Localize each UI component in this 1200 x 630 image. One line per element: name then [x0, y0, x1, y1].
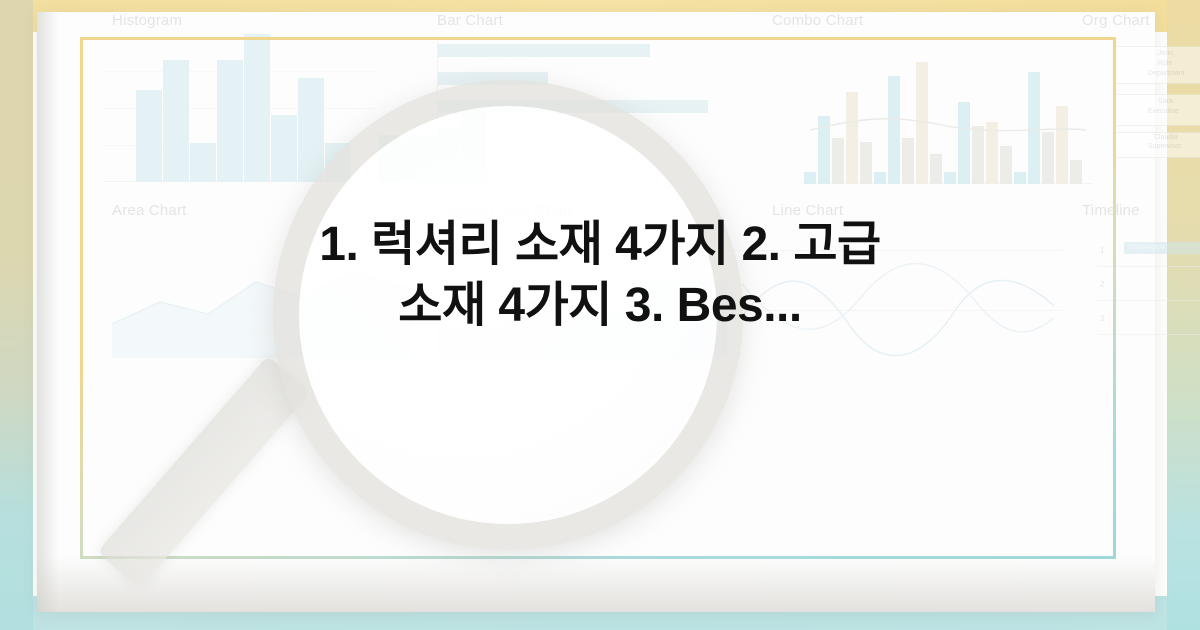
panel-title-org-chart: Org Chart [1082, 12, 1150, 29]
org-node-label: Claudia [1154, 134, 1178, 141]
org-node-label: Sara [1158, 98, 1173, 105]
panel-combo-chart: Combo Chart [772, 12, 863, 29]
screenshot-canvas: Histogram Bar Chart [0, 0, 1200, 630]
org-node-label: Supervisor [1148, 143, 1181, 150]
sheet-bottom-shadow [37, 556, 1155, 612]
org-node-label: Executive [1148, 108, 1178, 115]
panel-histogram: Histogram [112, 12, 182, 29]
panel-bar-chart: Bar Chart [437, 12, 503, 29]
page-title: 1. 럭셔리 소재 4가지 2. 고급 소재 4가지 3. Bes... [0, 214, 1200, 337]
panel-title-histogram: Histogram [112, 12, 182, 29]
panel-org-chart: Org Chart Jenn Role Department Sara Exec… [1082, 12, 1150, 29]
panel-title-bar-chart: Bar Chart [437, 12, 503, 29]
org-node-label: Department [1148, 70, 1185, 77]
org-node-label: Jenn [1158, 50, 1173, 57]
panel-title-combo-chart: Combo Chart [772, 12, 863, 29]
org-node-label: Role [1158, 60, 1172, 67]
